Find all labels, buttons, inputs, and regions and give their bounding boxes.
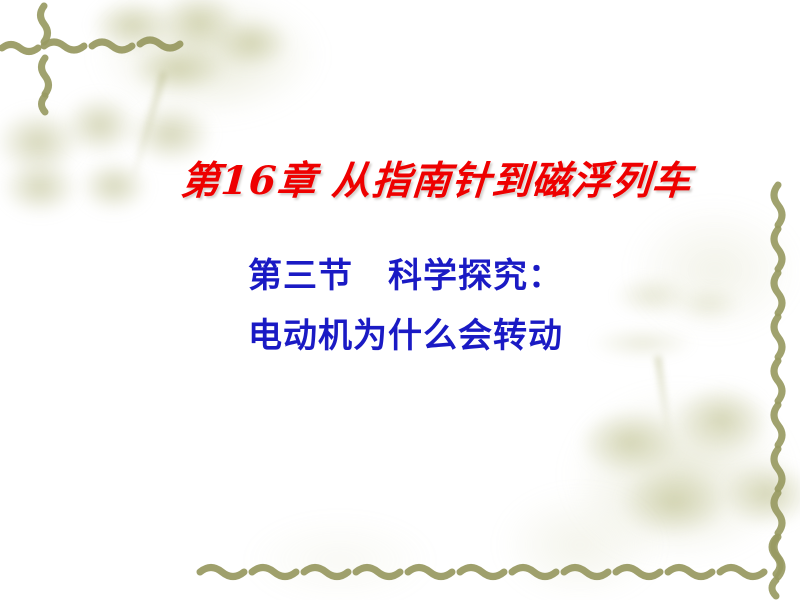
- watermark-petal: [652, 368, 792, 472]
- watermark-petal: [700, 446, 800, 542]
- watermark-stem: [131, 71, 167, 176]
- watermark-petal: [568, 320, 718, 366]
- wavy-vertical-border-right: [756, 182, 800, 582]
- watermark-petal: [72, 0, 192, 64]
- watermark-glow: [58, 0, 358, 140]
- chapter-title: 第16章 从指南针到磁浮列车: [179, 150, 694, 206]
- watermark-petal: [660, 278, 756, 330]
- watermark-petal: [556, 394, 704, 490]
- section-subtitle-line-1: 第三节 科学探究：: [248, 248, 563, 297]
- watermark-foliage: [66, 150, 162, 222]
- watermark-foliage: [0, 96, 98, 188]
- watermark-glow: [210, 500, 470, 600]
- watermark-glow: [530, 360, 800, 590]
- watermark-foliage: [48, 82, 152, 168]
- watermark-stem: [655, 356, 672, 432]
- watermark-petal: [196, 6, 306, 80]
- wavy-dash-border-bottom: [196, 550, 800, 594]
- wavy-cross-ornament-top-left: [0, 0, 200, 130]
- watermark-petal: [112, 34, 244, 104]
- background-watermark-layer: [0, 0, 800, 600]
- watermark-petal: [140, 0, 258, 66]
- watermark-glow: [600, 180, 800, 360]
- presentation-slide: 第16章 从指南针到磁浮列车 第三节 科学探究： 电动机为什么会转动: [0, 0, 800, 600]
- watermark-petal: [596, 266, 708, 326]
- watermark-petal: [596, 452, 752, 552]
- watermark-foliage: [0, 148, 94, 226]
- watermark-glow: [470, 470, 690, 600]
- section-subtitle-line-2: 电动机为什么会转动: [248, 308, 563, 357]
